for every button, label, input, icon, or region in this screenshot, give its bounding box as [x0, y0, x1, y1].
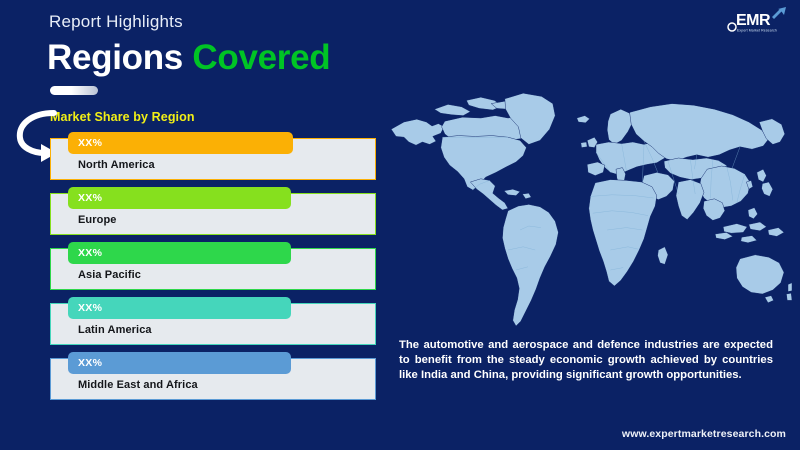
page-title-main: Regions [47, 38, 192, 77]
footer-url[interactable]: www.expertmarketresearch.com [622, 428, 786, 440]
emr-logo-icon: EMR Expert Market Research [726, 4, 792, 36]
page-title: Regions Covered [47, 38, 330, 78]
region-bar-label-wrap: XX% [68, 132, 293, 154]
region-label: Latin America [78, 324, 152, 336]
region-label: North America [78, 159, 155, 171]
region-bar-label-wrap: XX% [68, 297, 291, 319]
svg-text:EMR: EMR [736, 12, 771, 29]
region-bar-label-wrap: XX% [68, 352, 291, 374]
market-share-chart: XX% North America XX% Europe XX% Asia Pa… [50, 132, 376, 400]
chart-row: XX% Europe [50, 187, 376, 235]
region-bar-label-wrap: XX% [68, 242, 291, 264]
region-label: Asia Pacific [78, 269, 141, 281]
page-eyebrow: Report Highlights [49, 12, 183, 32]
page-title-accent: Covered [192, 38, 330, 77]
bar-value-label: XX% [78, 302, 102, 314]
bar-value-label: XX% [78, 192, 102, 204]
chart-row: XX% North America [50, 132, 376, 180]
chart-row: XX% Latin America [50, 297, 376, 345]
title-underline-pill [50, 86, 98, 95]
slide-root: Report Highlights Regions Covered EMR Ex… [0, 0, 800, 450]
bar-value-label: XX% [78, 247, 102, 259]
svg-text:Expert Market Research: Expert Market Research [737, 29, 777, 33]
chart-row: XX% Middle East and Africa [50, 352, 376, 400]
chart-row: XX% Asia Pacific [50, 242, 376, 290]
bar-value-label: XX% [78, 357, 102, 369]
world-map [388, 62, 792, 330]
region-label: Middle East and Africa [78, 379, 198, 391]
bar-value-label: XX% [78, 137, 102, 149]
world-map-svg [388, 62, 792, 330]
emr-logo[interactable]: EMR Expert Market Research [726, 4, 792, 36]
region-label: Europe [78, 214, 117, 226]
region-bar-label-wrap: XX% [68, 187, 291, 209]
body-paragraph: The automotive and aerospace and defence… [399, 338, 773, 383]
